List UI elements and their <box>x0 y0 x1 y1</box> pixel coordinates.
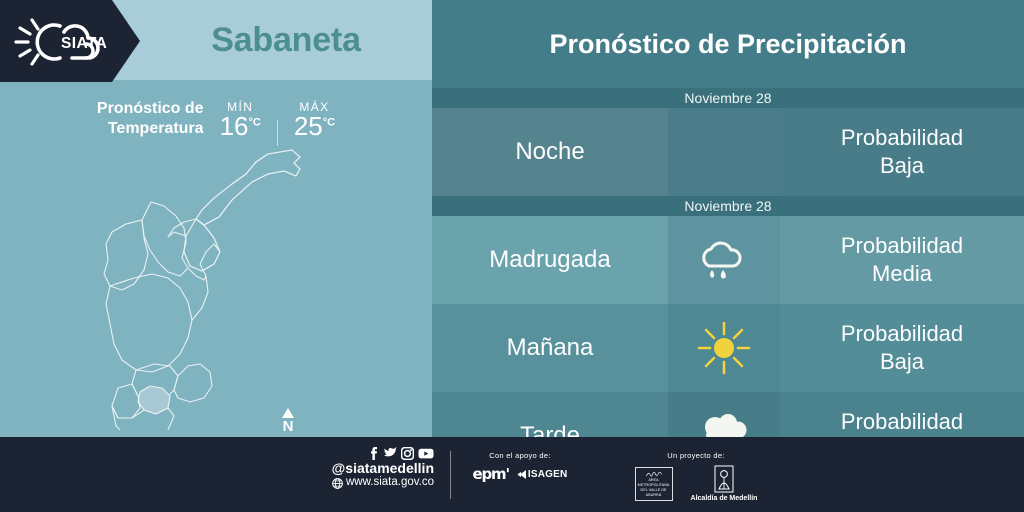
social-icons <box>312 447 434 460</box>
support-caption: Con el apoyo de: <box>462 451 578 460</box>
siata-logo-pennant: SIATA <box>0 0 140 82</box>
forecast-row-manana[interactable]: Mañana <box>432 304 1024 392</box>
map-municipio-barbosa <box>196 150 300 225</box>
sun-cloud-icon: SIATA <box>12 14 124 70</box>
probability-line2: Baja <box>841 348 963 376</box>
map-municipio-girardota <box>196 150 300 225</box>
website-link[interactable]: www.siata.gov.co <box>312 476 434 490</box>
area-logo-caption: ÁREA METROPOLITANADEL VALLE DE ABURRÁ <box>638 478 670 497</box>
temperature-title-line2: Temperatura <box>97 119 204 139</box>
date-band-2: Noviembre 28 <box>432 196 1024 216</box>
alcaldia-logo-caption: Alcaldía de Medellín <box>691 495 758 502</box>
map-municipio-west-upper <box>104 220 148 290</box>
probability-line1: Probabilidad <box>841 408 963 436</box>
project-logo-row: ÁREA METROPOLITANADEL VALLE DE ABURRÁ Al… <box>596 465 796 502</box>
temperature-min-value-wrap: 16°C <box>220 113 261 139</box>
website-text: www.siata.gov.co <box>346 476 434 490</box>
footer-divider <box>450 451 451 499</box>
map-svg <box>56 140 386 430</box>
map-municipio-caldas <box>112 406 174 430</box>
map-municipio-san-pedro <box>142 202 188 276</box>
social-handle[interactable]: @siatamedellin <box>312 461 434 476</box>
precipitation-title: Pronóstico de Precipitación <box>432 0 1024 88</box>
period-label: Mañana <box>432 304 668 392</box>
instagram-icon[interactable] <box>401 447 414 460</box>
youtube-icon[interactable] <box>418 447 434 460</box>
temperature-max-value: 25 <box>294 111 323 141</box>
forecast-row-noche[interactable]: Noche Probabilidad Baja <box>432 108 1024 196</box>
probability-line2: Baja <box>841 152 963 180</box>
map-municipio-envigado <box>174 364 212 402</box>
probability-line1: Probabilidad <box>841 320 963 348</box>
siata-logo-text: SIATA <box>61 35 107 52</box>
north-arrow-label: N <box>283 418 294 435</box>
area-metropolitana-logo: ÁREA METROPOLITANADEL VALLE DE ABURRÁ <box>635 467 673 501</box>
temperature-max-unit: °C <box>323 116 335 128</box>
project-caption: Un proyecto de: <box>596 451 796 460</box>
map-municipio-la-estrella <box>112 384 140 418</box>
temperature-min-value: 16 <box>220 111 249 141</box>
probability-line1: Probabilidad <box>841 232 963 260</box>
period-label: Madrugada <box>432 216 668 304</box>
precipitation-panel: Pronóstico de Precipitación Noviembre 28… <box>432 0 1024 437</box>
footer: @siatamedellin www.siata.gov.co Con el a… <box>0 437 1024 512</box>
area-script-icon <box>639 470 669 478</box>
alcaldia-emblem-icon <box>714 465 734 493</box>
social-block: @siatamedellin www.siata.gov.co <box>312 447 434 490</box>
isagen-logo: ISAGEN <box>517 469 568 480</box>
probability-label: Probabilidad Baja <box>780 108 1024 196</box>
city-title: Sabaneta <box>140 0 432 80</box>
north-arrow-triangle <box>282 408 294 418</box>
map-municipio-bello <box>168 219 220 271</box>
facebook-icon[interactable] <box>367 447 380 460</box>
epm-logo: epm' <box>473 465 509 483</box>
twitter-icon[interactable] <box>384 447 397 460</box>
left-panel: SIATA Sabaneta Pronóstico de Temperatura… <box>0 0 432 437</box>
temperature-max-value-wrap: 25°C <box>294 113 335 139</box>
weather-forecast-infographic: SIATA Sabaneta Pronóstico de Temperatura… <box>0 0 1024 512</box>
probability-label: Probabilidad Baja <box>780 304 1024 392</box>
period-label: Noche <box>432 108 668 196</box>
crescent-moon-icon <box>668 108 780 196</box>
alcaldia-medellin-logo: Alcaldía de Medellín <box>691 465 758 502</box>
support-credits: Con el apoyo de: epm' ISAGEN <box>462 451 578 483</box>
moon-cloud-rain-icon <box>668 216 780 304</box>
map-east-ridge <box>192 244 220 320</box>
sun-icon <box>668 304 780 392</box>
probability-line2: Media <box>841 260 963 288</box>
globe-icon <box>332 478 343 489</box>
forecast-row-madrugada[interactable]: Madrugada Probabilidad Media <box>432 216 1024 304</box>
temperature-title: Pronóstico de Temperatura <box>97 99 204 138</box>
north-arrow: N <box>282 408 294 434</box>
support-logo-row: epm' ISAGEN <box>462 465 578 483</box>
date-band-1: Noviembre 28 <box>432 88 1024 108</box>
probability-label: Probabilidad Media <box>780 216 1024 304</box>
probability-line1: Probabilidad <box>841 124 963 152</box>
project-credits: Un proyecto de: ÁREA METROPOLITANADEL VA… <box>596 451 796 502</box>
isagen-mark-icon <box>517 470 527 479</box>
valle-de-aburra-map: N <box>56 140 386 430</box>
temperature-max: MÁX 25°C <box>294 100 335 139</box>
temperature-min: MÍN 16°C <box>220 100 261 139</box>
temperature-min-unit: °C <box>249 116 261 128</box>
temperature-title-line1: Pronóstico de <box>97 99 204 119</box>
